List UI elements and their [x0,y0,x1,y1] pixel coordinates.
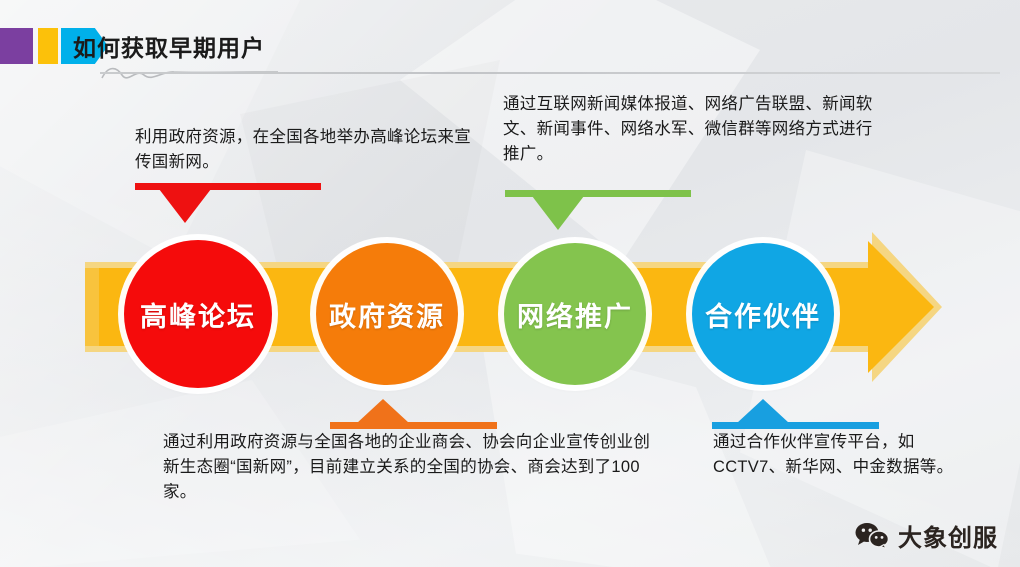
process-node-summit-forum[interactable]: 高峰论坛 [124,240,272,388]
process-node-network-promotion[interactable]: 网络推广 [504,243,646,385]
brand-label: 大象创服 [898,518,998,553]
process-node-government-resource[interactable]: 政府资源 [316,243,458,385]
blue-up-arrow-icon [712,399,879,429]
slide-canvas: 如何获取早期用户 利用政府资源，在全国各地举办高峰论坛来宣传国新网。 通过互联网… [0,0,1020,567]
orange-up-arrow-icon [330,399,497,429]
process-node-label: 网络推广 [517,295,633,334]
process-node-label: 高峰论坛 [140,295,256,334]
callout-government-resource: 通过利用政府资源与全国各地的企业商会、协会向企业宣传创业创新生态圈“国新网”，目… [163,430,663,505]
wechat-icon [855,522,889,549]
callout-partner: 通过合作伙伴宣传平台，如CCTV7、新华网、中金数据等。 [713,430,983,480]
process-node-label: 合作伙伴 [705,295,821,334]
footer-brand: 大象创服 [855,518,998,553]
process-node-label: 政府资源 [329,295,445,334]
process-node-partner[interactable]: 合作伙伴 [692,243,834,385]
